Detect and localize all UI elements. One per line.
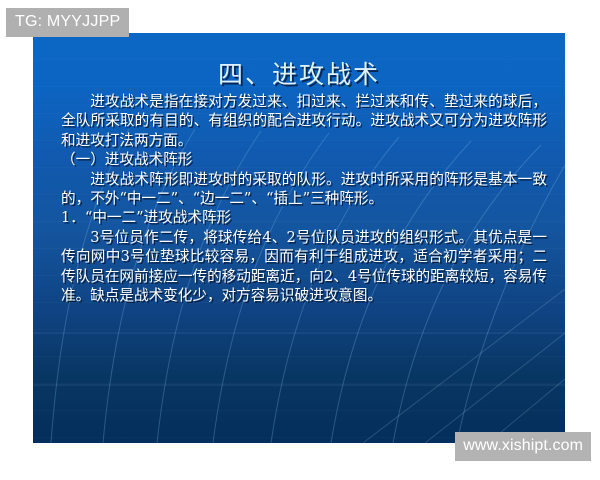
slide-subheading: （一）进攻战术阵形	[61, 150, 547, 169]
site-watermark-badge: www.xishipt.com	[455, 432, 591, 461]
tg-watermark-badge: TG: MYYJJPP	[6, 8, 129, 37]
slide-title: 四、进攻战术	[33, 55, 565, 91]
presentation-slide: 四、进攻战术 进攻战术是指在接对方发过来、扣过来、拦过来和传、垫过来的球后，全队…	[33, 33, 565, 443]
slide-body-text: 进攻战术是指在接对方发过来、扣过来、拦过来和传、垫过来的球后，全队所采取的有目的…	[61, 92, 547, 305]
slide-paragraph: 3号位员作二传，将球传给4、2号位队员进攻的组织形式。其优点是一传向网中3号位垫…	[61, 228, 547, 306]
slide-paragraph: 进攻战术是指在接对方发过来、扣过来、拦过来和传、垫过来的球后，全队所采取的有目的…	[61, 92, 547, 150]
slide-paragraph: 进攻战术阵形即进攻时的采取的队形。进攻时所采用的阵形是基本一致的，不外“中一二”…	[61, 170, 547, 209]
slide-subheading: 1．“中一二”进攻战术阵形	[61, 208, 547, 227]
